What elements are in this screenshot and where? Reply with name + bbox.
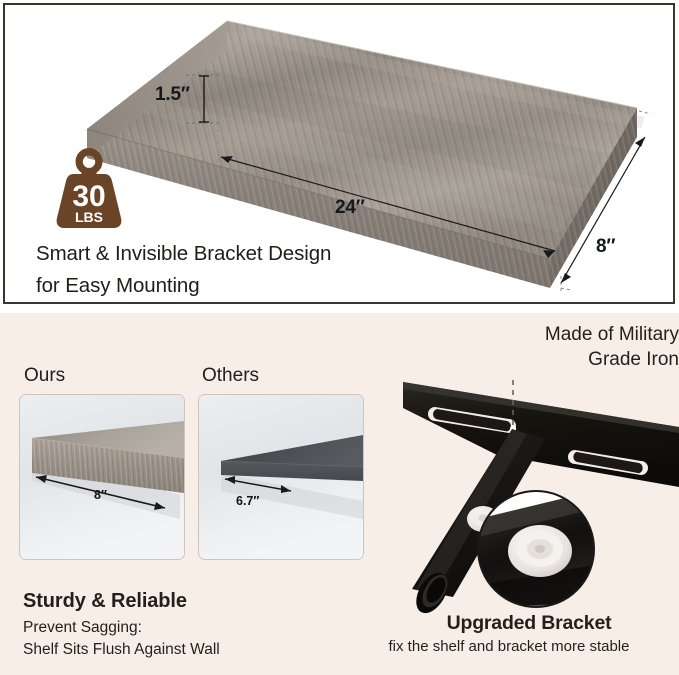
- sturdy-sub-line-1: Prevent Sagging:: [23, 617, 220, 639]
- others-shelf-svg: 6.7″: [199, 395, 363, 559]
- sturdy-title: Sturdy & Reliable: [23, 590, 187, 613]
- ours-shelf-svg: 8″: [20, 395, 184, 559]
- zoom-callout-circle: [478, 491, 594, 607]
- upgraded-bracket-subtitle: fix the shelf and bracket more stable: [339, 638, 679, 655]
- product-infographic: 1.5″ 24″ 8″ 30 LBS Smart & Invisible Bra…: [0, 0, 679, 675]
- headline: Smart & Invisible Bracket Design for Eas…: [36, 238, 466, 302]
- ours-dimension-label: 8″: [94, 488, 107, 502]
- dimension-length-label: 24″: [335, 197, 365, 219]
- weight-icon: 30 LBS: [49, 144, 129, 232]
- weight-capacity-badge: 30 LBS: [49, 144, 129, 232]
- comparison-image-others: 6.7″: [198, 394, 364, 560]
- material-title-line-2: Grade Iron: [430, 347, 679, 372]
- material-title-line-1: Made of Military: [430, 322, 679, 347]
- others-dimension-label: 6.7″: [236, 494, 259, 508]
- sturdy-subtitle: Prevent Sagging: Shelf Sits Flush Agains…: [23, 617, 220, 661]
- headline-line-1: Smart & Invisible Bracket Design: [36, 238, 466, 270]
- dimension-thickness-label: 1.5″: [155, 84, 190, 106]
- dimension-depth-label: 8″: [596, 236, 615, 258]
- weight-unit: LBS: [75, 209, 103, 225]
- label-ours: Ours: [24, 365, 65, 387]
- label-others: Others: [202, 365, 259, 387]
- wall-plate: [403, 382, 679, 487]
- material-title: Made of Military Grade Iron: [430, 322, 679, 372]
- comparison-image-ours: 8″: [19, 394, 185, 560]
- top-panel: 1.5″ 24″ 8″ 30 LBS Smart & Invisible Bra…: [3, 3, 675, 304]
- sturdy-sub-line-2: Shelf Sits Flush Against Wall: [23, 639, 220, 661]
- upgraded-bracket-title: Upgraded Bracket: [379, 612, 679, 635]
- headline-line-2: for Easy Mounting: [36, 270, 466, 302]
